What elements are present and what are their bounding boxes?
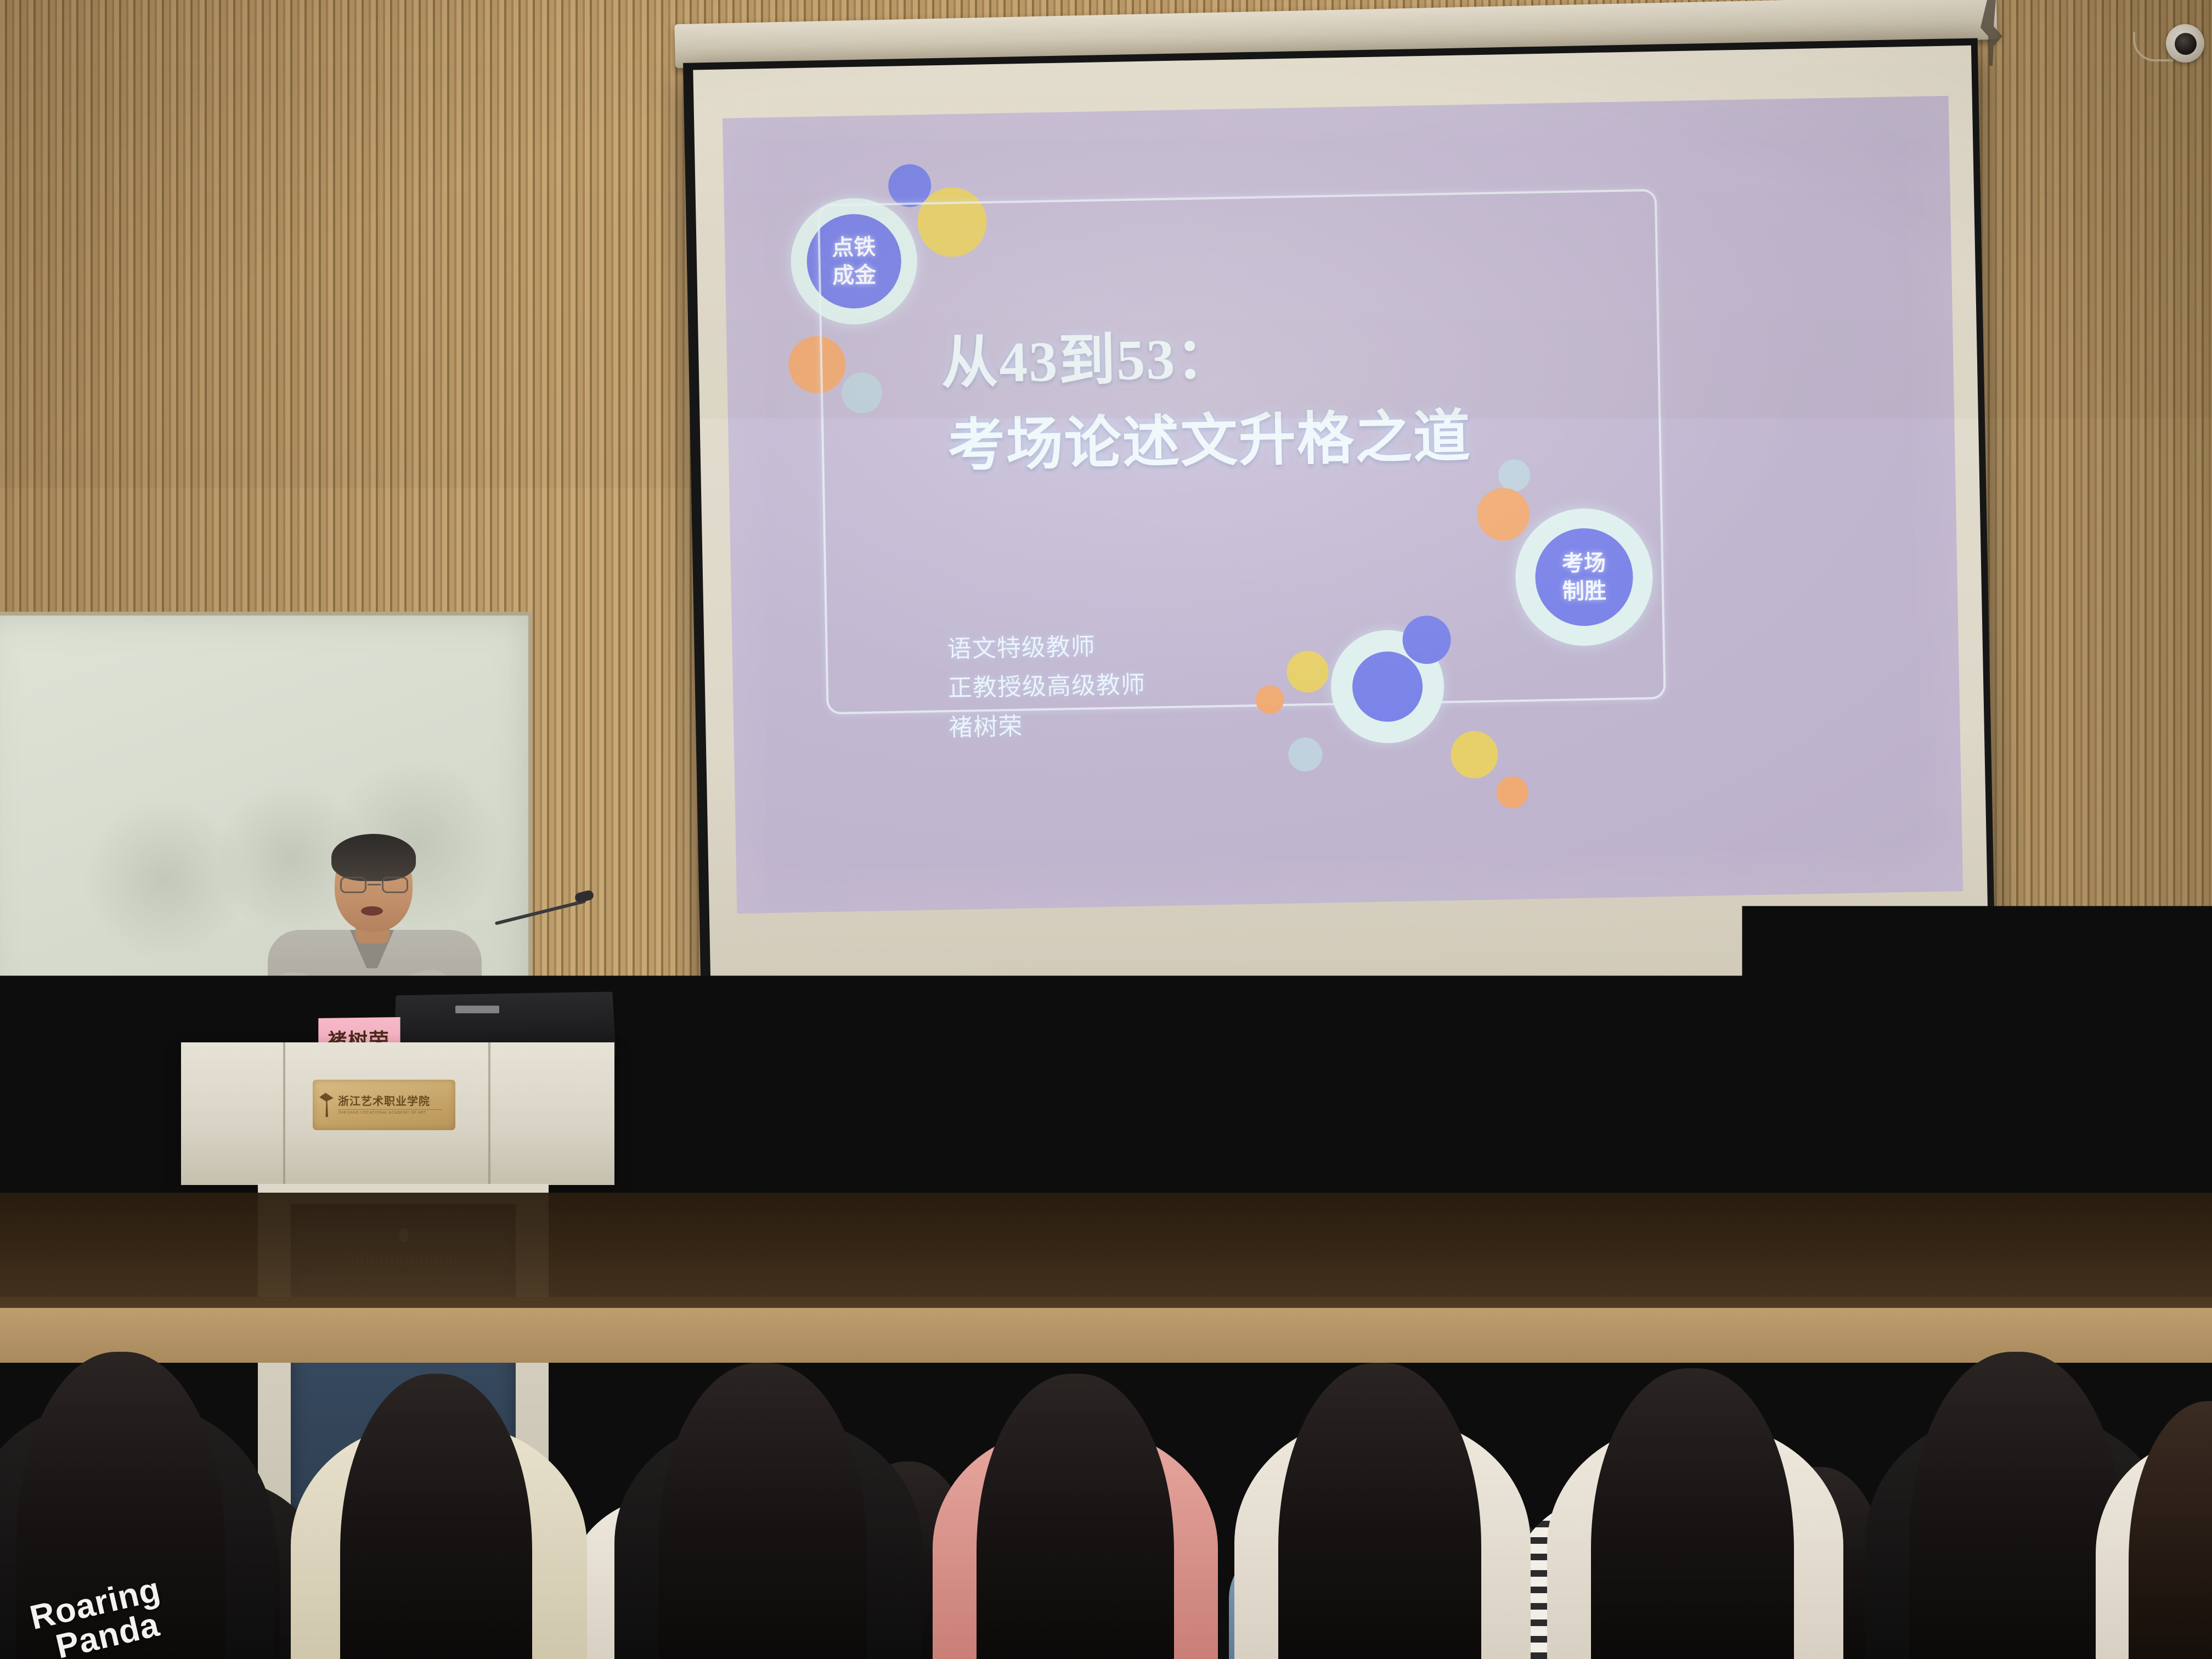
speaker-mouth: [361, 906, 383, 916]
badge-right-core: 考场 制胜: [1534, 527, 1634, 627]
speaker-hair: [331, 834, 416, 881]
audience-head: [1591, 1368, 1794, 1659]
badge-right-line2: 制胜: [1562, 577, 1606, 606]
audience-head: [1909, 1352, 2123, 1659]
decor-ring-core: [1352, 651, 1423, 722]
podium-seam: [488, 1042, 490, 1185]
audience-head: [658, 1363, 867, 1659]
slide-subtitle-line3: 褚树荣: [949, 704, 1147, 747]
laptop-bezel-strip: [455, 1006, 499, 1013]
audience-head: [1278, 1363, 1481, 1659]
audience-head: [340, 1374, 532, 1659]
projected-slide: 点铁 成金 从43到53： 考场论述文升格之道 语文特级教师 正教授级高级教师 …: [723, 96, 1963, 914]
venue-logo-icon: [319, 1093, 334, 1117]
venue-plaque-subtext: ZHEJIANG VOCATIONAL ACADEMY OF ART: [338, 1109, 442, 1115]
slide-subtitle-line2: 正教授级高级教师: [947, 665, 1145, 708]
slide-title: 从43到53： 考场论述文升格之道: [940, 313, 1472, 488]
audience-rows: Roaring Panda: [0, 1165, 2212, 1659]
audience-head: [2129, 1401, 2212, 1659]
lecture-hall-scene: 点铁 成金 从43到53： 考场论述文升格之道 语文特级教师 正教授级高级教师 …: [0, 0, 2212, 1659]
decor-dot-yellow: [1451, 731, 1499, 779]
badge-right-line1: 考场: [1562, 549, 1606, 578]
slide-title-line2: 考场论述文升格之道: [947, 396, 1472, 488]
slide-subtitle: 语文特级教师 正教授级高级教师 褚树荣: [947, 627, 1147, 747]
podium-seam: [283, 1042, 285, 1185]
audience-head: [977, 1374, 1174, 1659]
slide-title-line1: 从43到53：: [940, 313, 1471, 405]
venue-plaque: 浙江艺术职业学院 ZHEJIANG VOCATIONAL ACADEMY OF …: [313, 1080, 455, 1130]
venue-plaque-text: 浙江艺术职业学院: [338, 1096, 442, 1108]
slide-subtitle-line1: 语文特级教师: [947, 627, 1145, 669]
camera-lens-icon: [2175, 33, 2197, 55]
glasses-icon: [340, 877, 408, 893]
decor-dot-pale: [1288, 737, 1323, 772]
decor-dot-orange: [1255, 685, 1284, 714]
decor-dot-orange: [1496, 776, 1528, 809]
